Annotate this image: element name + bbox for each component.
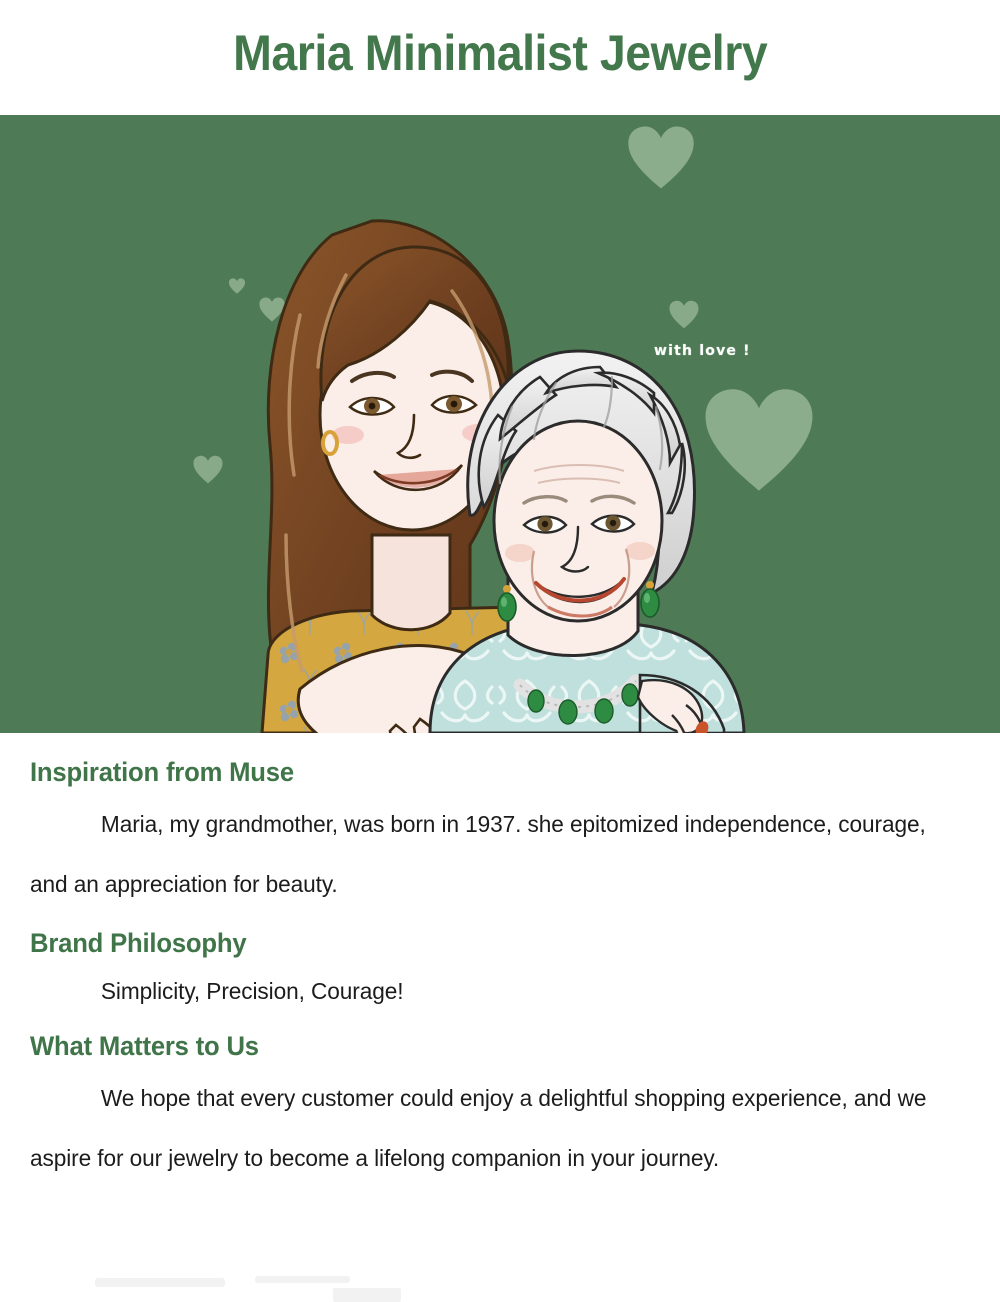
hero-illustration: with love ! — [0, 115, 1000, 733]
section-paragraph-philosophy: Simplicity, Precision, Courage! — [30, 965, 948, 1017]
page-fold-artifact — [255, 1276, 350, 1283]
page-fold-artifact — [333, 1288, 401, 1302]
section-heading-what-matters: What Matters to Us — [30, 1031, 915, 1062]
section-heading-inspiration: Inspiration from Muse — [30, 757, 915, 788]
page-fold-artifact — [95, 1278, 225, 1287]
content-area: Inspiration from Muse Maria, my grandmot… — [0, 733, 1000, 1188]
brand-title: Maria Minimalist Jewelry — [233, 24, 767, 82]
section-paragraph-what-matters: We hope that every customer could enjoy … — [30, 1068, 948, 1188]
section-heading-philosophy: Brand Philosophy — [30, 928, 915, 959]
section-paragraph-inspiration: Maria, my grandmother, was born in 1937.… — [30, 794, 948, 914]
illustration-artwork — [0, 115, 1000, 733]
page-header: Maria Minimalist Jewelry — [0, 0, 1000, 115]
